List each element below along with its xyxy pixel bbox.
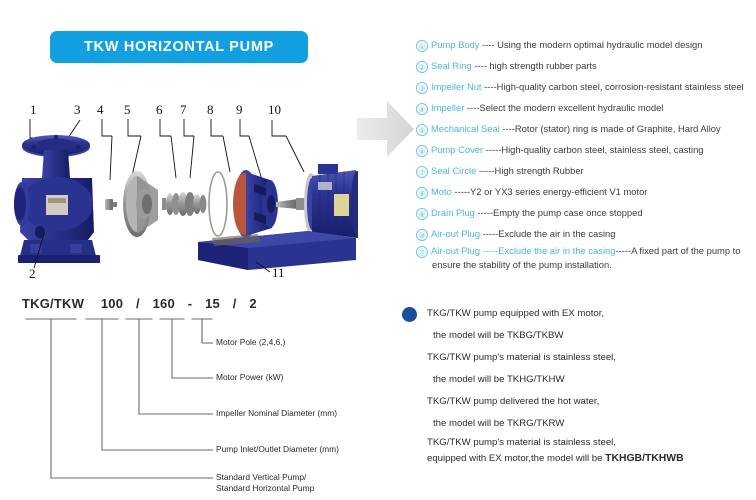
part-mechanical-seal [162, 192, 207, 216]
variant-note-line: the model will be TKHG/TKHW [433, 369, 752, 391]
legend-desc: ----High-quality carbon steel, corrosion… [482, 81, 744, 92]
legend-label: Impeller [431, 102, 464, 113]
legend-label: Seal Circle [431, 165, 476, 176]
model-label-motor-power: Motor Power (kW) [216, 372, 283, 384]
callout-5: 5 [124, 102, 131, 117]
model-label-inlet-outlet-diameter: Pump Inlet/Outlet Diameter (mm) [216, 444, 339, 456]
callout-7: 7 [180, 102, 187, 117]
callout-3: 3 [74, 102, 81, 117]
legend-number: ⑦ [416, 166, 428, 178]
part-motor [276, 164, 358, 238]
callout-8: 8 [207, 102, 214, 117]
legend-number: ② [416, 61, 428, 73]
legend-number: ④ [416, 103, 428, 115]
legend-label: Air-out Plug [431, 228, 480, 239]
callout-2: 2 [29, 266, 36, 281]
callout-6: 6 [156, 102, 163, 117]
legend-number: ⑪ [416, 246, 428, 258]
legend-label: Pump Body [431, 39, 479, 50]
legend-desc: -----High strength Rubber [476, 165, 583, 176]
legend-number: ① [416, 40, 428, 52]
right-arrow-icon [357, 96, 415, 162]
legend-item: ①Pump Body ---- Using the modern optimal… [416, 34, 756, 55]
part-impeller [123, 171, 158, 237]
callout-10: 10 [268, 102, 281, 117]
legend-label: Impeller Nut [431, 81, 482, 92]
legend-item: ⑧Moto -----Y2 or YX3 series energy-effic… [416, 181, 756, 202]
variant-note-prefix: equipped with EX motor,the model will be [427, 453, 605, 464]
variant-note-line: TKG/TKW pump's material is stainless ste… [427, 347, 752, 369]
legend-item: ③Impeller Nut ----High-quality carbon st… [416, 76, 756, 97]
legend-desc: -----High-quality carbon steel, stainles… [483, 144, 703, 155]
legend-desc: ---- Using the modern optimal hydraulic … [479, 39, 702, 50]
model-designation-leaders [8, 292, 398, 497]
legend-label: Drain Plug [431, 207, 475, 218]
legend-desc: -----Y2 or YX3 series energy-efficient V… [452, 186, 648, 197]
legend-label: Air-out Plug -----Exclude the air in the… [431, 245, 615, 256]
legend-desc: ----Select the modern excellent hydrauli… [464, 102, 663, 113]
part-pump-cover [233, 170, 278, 238]
component-legend-list: ①Pump Body ---- Using the modern optimal… [416, 34, 756, 274]
legend-desc: ---- high strength rubber parts [472, 60, 597, 71]
title-banner: TKW HORIZONTAL PUMP [50, 31, 308, 63]
variant-note-line: the model will be TKBG/TKBW [433, 325, 752, 347]
model-label-pump-type-line2: Standard Horizontal Pump [216, 483, 314, 495]
variant-note-model: TKHGB/TKHWB [605, 453, 684, 464]
legend-item: ⑥Pump Cover -----High-quality carbon ste… [416, 139, 756, 160]
callout-numbers-top: 1 3 4 5 6 7 8 9 10 [30, 102, 281, 117]
title-banner-label: TKW HORIZONTAL PUMP [84, 39, 274, 55]
model-label-motor-pole: Motor Pole (2,4,6,) [216, 337, 285, 349]
legend-desc: -----Exclude the air in the casing [480, 228, 615, 239]
legend-number: ⑩ [416, 229, 428, 241]
variant-note-line: TKG/TKW pump delivered the hot water, [427, 391, 752, 413]
part-impeller-nut [105, 199, 117, 210]
legend-item: ⑨Drain Plug -----Empty the pump case onc… [416, 202, 756, 223]
callout-1: 1 [30, 102, 37, 117]
model-label-impeller-diameter: Impeller Nominal Diameter (mm) [216, 408, 337, 420]
variant-notes-block: TKG/TKW pump equipped with EX motor, the… [402, 303, 752, 467]
model-label-pump-type-line1: Standard Vertical Pump/ [216, 472, 306, 484]
legend-item: ②Seal Ring ---- high strength rubber par… [416, 55, 756, 76]
bullet-dot-icon [402, 307, 417, 322]
pump-exploded-diagram: 1 3 4 5 6 7 8 9 10 [8, 92, 358, 282]
model-designation-diagram: TKG/TKW 100 / 160 - 15 / 2 [8, 292, 398, 497]
legend-item: ⑩Air-out Plug -----Exclude the air in th… [416, 223, 756, 244]
part-seal-circle [209, 172, 227, 236]
callout-9: 9 [236, 102, 243, 117]
legend-desc-line2: ensure the stability of the pump install… [432, 258, 756, 271]
callout-leaders-top [30, 119, 286, 138]
variant-note-line: TKG/TKW pump equipped with EX motor, [427, 303, 752, 325]
legend-desc: ----Rotor (stator) ring is made of Graph… [500, 123, 721, 134]
variant-note-line: TKG/TKW pump's material is stainless ste… [427, 435, 752, 451]
legend-item: ④Impeller ----Select the modern excellen… [416, 97, 756, 118]
variant-note-line-last: equipped with EX motor,the model will be… [427, 451, 752, 467]
legend-number: ⑨ [416, 208, 428, 220]
legend-desc: -----A fixed part of the pump to [615, 245, 740, 256]
legend-number: ⑤ [416, 124, 428, 136]
page-root: TKW HORIZONTAL PUMP [0, 0, 756, 500]
legend-label: Seal Ring [431, 60, 472, 71]
legend-desc: -----Empty the pump case once stopped [475, 207, 643, 218]
legend-number: ⑥ [416, 145, 428, 157]
variant-note-line: the model will be TKRG/TKRW [433, 413, 752, 435]
callout-4: 4 [97, 102, 104, 117]
legend-number: ⑧ [416, 187, 428, 199]
legend-label: Moto [431, 186, 452, 197]
legend-item: ⑪Air-out Plug -----Exclude the air in th… [416, 244, 756, 274]
callout-11: 11 [272, 265, 285, 280]
legend-item: ⑦Seal Circle -----High strength Rubber [416, 160, 756, 181]
legend-item: ⑤Mechanical Seal ----Rotor (stator) ring… [416, 118, 756, 139]
legend-number: ③ [416, 82, 428, 94]
legend-label: Pump Cover [431, 144, 483, 155]
legend-label: Mechanical Seal [431, 123, 500, 134]
